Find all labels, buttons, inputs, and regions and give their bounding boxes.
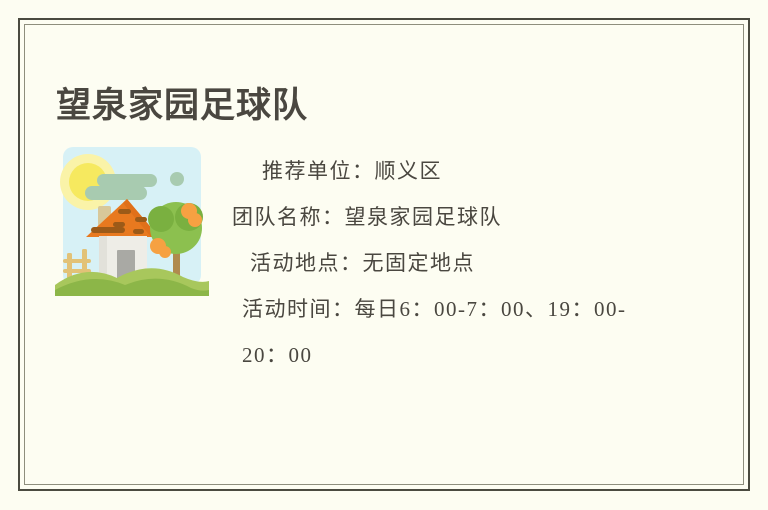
- detail-team-name: 团队名称：望泉家园足球队: [224, 194, 644, 240]
- page-title: 望泉家园足球队: [56, 84, 308, 128]
- card-content: 望泉家园足球队: [24, 24, 744, 485]
- team-thumbnail-image: [55, 145, 209, 296]
- detail-activity-location: 活动地点：无固定地点: [224, 240, 644, 286]
- page-root: 望泉家园足球队: [0, 0, 768, 510]
- house-illustration-icon: [55, 145, 209, 296]
- detail-activity-time: 活动时间：每日6：00-7：00、19：00-20：00: [224, 286, 657, 378]
- detail-recommending-unit: 推荐单位：顺义区: [224, 148, 644, 194]
- team-details-block: 推荐单位：顺义区 团队名称：望泉家园足球队 活动地点：无固定地点 活动时间：每日…: [224, 148, 644, 378]
